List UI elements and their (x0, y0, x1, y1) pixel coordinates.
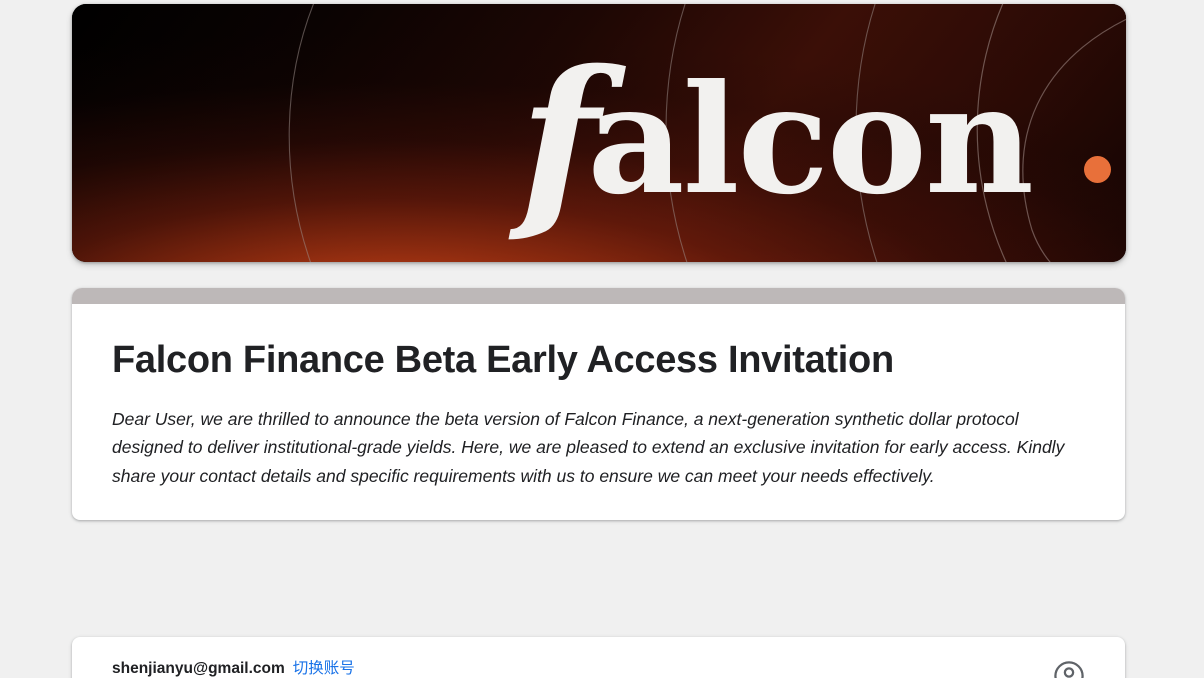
account-info-card: shenjianyu@gmail.com 切换账号 (72, 637, 1125, 678)
falcon-brand-banner: falcon (72, 4, 1126, 262)
form-description: Dear User, we are thrilled to announce t… (112, 405, 1085, 490)
falcon-wordmark-f: f (519, 29, 597, 248)
account-email: shenjianyu@gmail.com (112, 659, 285, 678)
page-title: Falcon Finance Beta Early Access Invitat… (112, 338, 972, 383)
account-circle-icon[interactable] (1053, 660, 1085, 678)
switch-account-link[interactable]: 切换账号 (293, 659, 355, 678)
falcon-wordmark-rest: alcon (587, 52, 1032, 228)
form-header-card: Falcon Finance Beta Early Access Invitat… (72, 288, 1125, 520)
falcon-wordmark: falcon (492, 22, 1052, 242)
account-avatar-area[interactable] (1053, 659, 1085, 678)
form-accent-strip (72, 288, 1125, 304)
email-form-page: falcon Falcon Finance Beta Early Access … (0, 0, 1204, 678)
form-card-body: Falcon Finance Beta Early Access Invitat… (72, 304, 1125, 520)
account-identity: shenjianyu@gmail.com 切换账号 (112, 659, 355, 678)
falcon-accent-dot-icon (1084, 156, 1111, 183)
banner-logo-area: falcon (72, 4, 1126, 262)
